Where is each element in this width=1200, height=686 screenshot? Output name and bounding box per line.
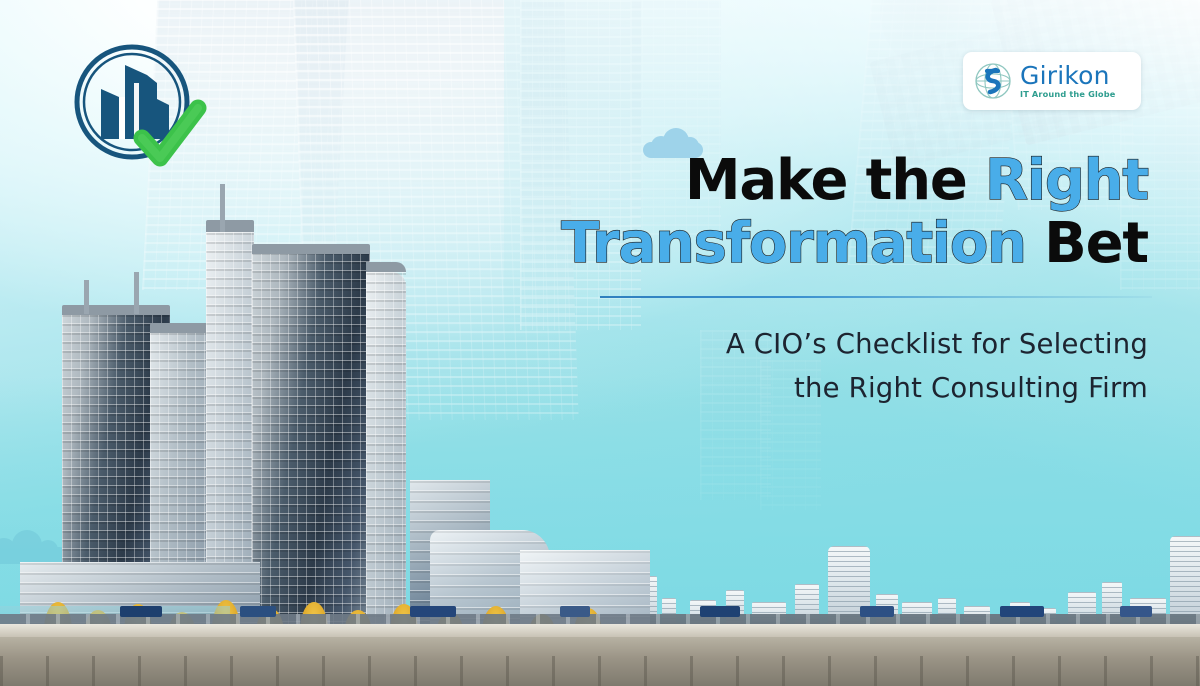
green-checkmark-icon bbox=[132, 96, 208, 172]
headline-line2-dark: Bet bbox=[1026, 211, 1148, 276]
girikon-logo[interactable]: Girikon IT Around the Globe bbox=[963, 52, 1141, 110]
marketing-banner: Girikon IT Around the Globe Make the Rig… bbox=[0, 0, 1200, 686]
subtitle-line-1: A CIO’s Checklist for Selecting bbox=[508, 322, 1148, 366]
globe-with-monogram-icon bbox=[973, 61, 1013, 101]
highway-bridge bbox=[0, 624, 1200, 686]
logo-tagline: IT Around the Globe bbox=[1020, 90, 1115, 98]
headline-line1-accent: Right bbox=[985, 148, 1148, 213]
subtitle: A CIO’s Checklist for Selecting the Righ… bbox=[508, 322, 1148, 410]
headline-line1-dark: Make the bbox=[685, 148, 985, 213]
headline-line-2: Transformation Bet bbox=[508, 213, 1148, 276]
headline-line-1: Make the Right bbox=[508, 150, 1148, 213]
horizontal-rule bbox=[600, 296, 1152, 298]
subtitle-line-2: the Right Consulting Firm bbox=[508, 366, 1148, 410]
logo-name: Girikon bbox=[1020, 63, 1115, 88]
headline-line2-accent: Transformation bbox=[561, 211, 1026, 276]
page-title: Make the Right Transformation Bet bbox=[508, 150, 1148, 275]
